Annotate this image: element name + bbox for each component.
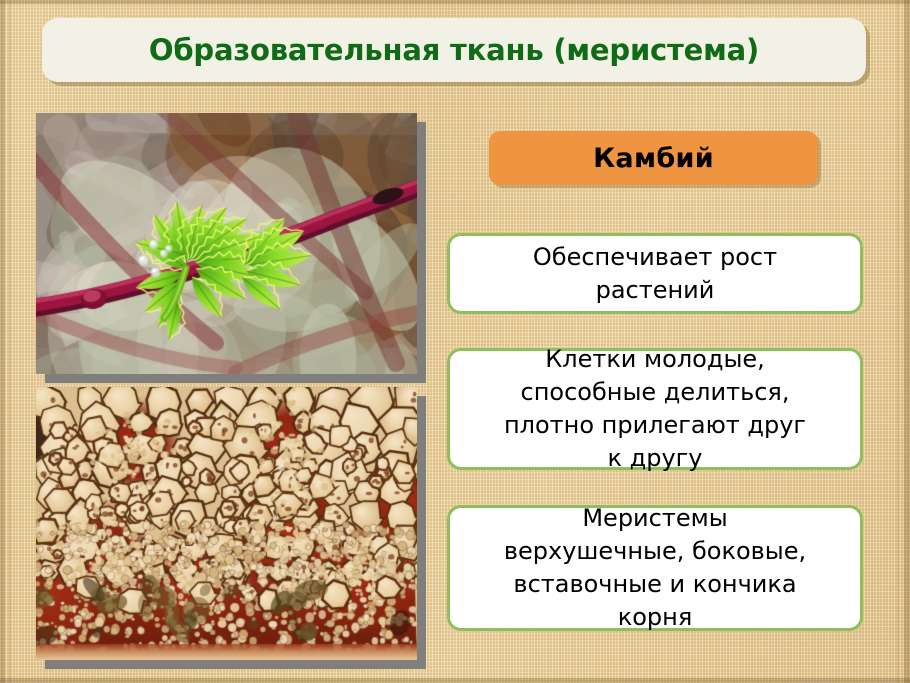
slide-border-bottom: [0, 678, 910, 683]
slide-canvas: Образовательная ткань (меристема) Камбий…: [0, 0, 910, 683]
slide-border-left: [0, 0, 5, 683]
budding-shoot-photo: [36, 113, 417, 374]
cambium-label: Камбий: [593, 143, 714, 174]
stem-cross-section-image: [36, 387, 417, 660]
fact-box-meristem-types: Меристемы верхушечные, боковые, вставочн…: [447, 505, 863, 631]
title-banner: Образовательная ткань (меристема): [42, 18, 866, 82]
slide-border-inner-right: [897, 0, 899, 683]
slide-border-right: [904, 0, 910, 683]
fact-box-growth: Обеспечивает рост растений: [447, 233, 863, 314]
slide-border-top: [0, 0, 910, 4]
budding-shoot-image: [36, 113, 417, 374]
fact-box-growth-text: Обеспечивает рост растений: [450, 241, 860, 307]
stem-cross-section-micrograph: [36, 387, 417, 660]
fact-box-young-cells-text: Клетки молодые, способные делиться, плот…: [450, 343, 860, 475]
page-title: Образовательная ткань (меристема): [149, 33, 759, 67]
slide-border-inner-left: [9, 0, 11, 683]
cambium-heading-chip: Камбий: [489, 131, 818, 185]
fact-box-meristem-types-text: Меристемы верхушечные, боковые, вставочн…: [450, 502, 860, 634]
fact-box-young-cells: Клетки молодые, способные делиться, плот…: [447, 348, 863, 470]
